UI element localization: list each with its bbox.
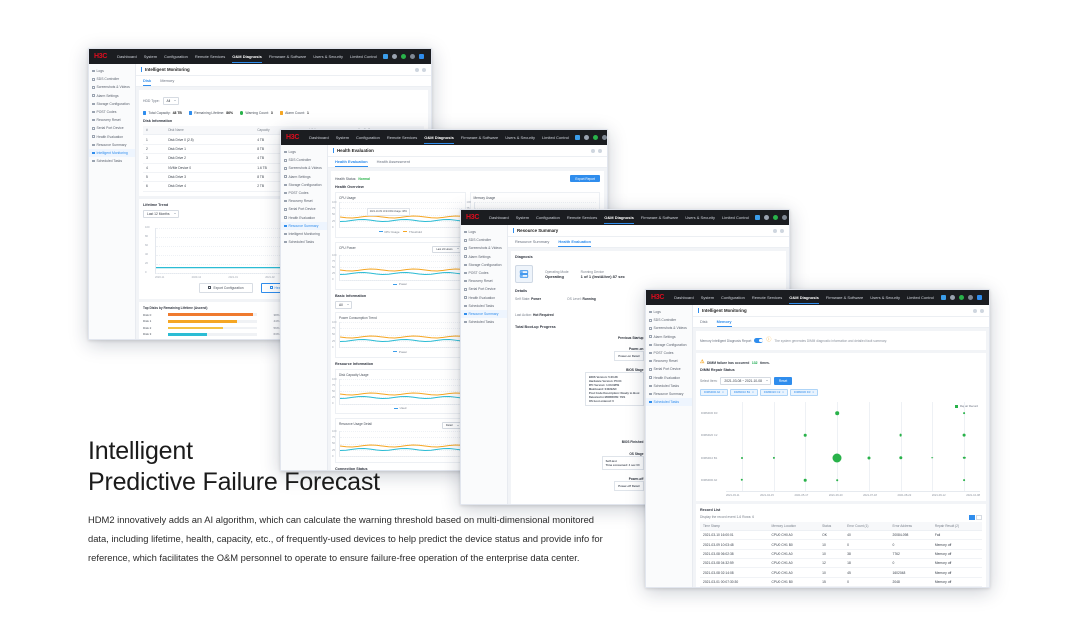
- sidebar-item-icon: [284, 184, 287, 187]
- table-cell: 12: [819, 559, 844, 568]
- sidebar-item-icon: [284, 208, 287, 211]
- nav-item-remote-services[interactable]: Remote Services: [752, 295, 782, 300]
- x-axis-tick: 2021-03-11: [726, 494, 740, 497]
- tab-memory[interactable]: Memory: [160, 78, 174, 86]
- sidebar-item-resource-summary[interactable]: Resource Summary: [281, 222, 327, 230]
- sidebar-item-sds-controller[interactable]: SDS Controller: [646, 316, 692, 324]
- sidebar-item-intelligent-monitoring[interactable]: Intelligent Monitoring: [281, 230, 327, 238]
- sidebar-item-icon: [92, 127, 95, 130]
- nav-item-configuration[interactable]: Configuration: [536, 215, 560, 220]
- column-header[interactable]: Disk Name: [165, 126, 254, 135]
- legend-entry[interactable]: CPU Usage: [379, 230, 400, 234]
- date-range-select[interactable]: 2021-03-08 ~ 2021-10-08: [720, 377, 771, 385]
- navbar: H3C Dashboard System Configuration Remot…: [461, 210, 789, 225]
- help-icon[interactable]: [410, 54, 415, 59]
- column-header[interactable]: #: [143, 126, 165, 135]
- navbar: H3C Dashboard System Configuration Remot…: [646, 290, 989, 305]
- sidebar-item-post-codes[interactable]: POST Codes: [646, 349, 692, 357]
- chart-range-select[interactable]: Last 12 Months: [143, 210, 179, 218]
- status-label: Health Status:: [335, 177, 356, 181]
- x-axis-tick: 2020-12: [192, 276, 202, 279]
- bar-section-1-title: Top Disks by Remaining Lifetime (Ascend): [143, 306, 280, 310]
- sidebar-item-alarm-settings[interactable]: Alarm Settings: [461, 253, 507, 261]
- sidebar-item-icon: [464, 239, 467, 242]
- column-header[interactable]: Time Stamp: [700, 522, 769, 531]
- table-cell: 6: [143, 182, 165, 191]
- detail-self-state: Self State: Power: [515, 297, 541, 301]
- field-value: 1 of 1 (InstAlive) 87 sec: [581, 274, 625, 279]
- sidebar-item-icon: [92, 111, 95, 114]
- language-icon[interactable]: [575, 135, 580, 140]
- page-title: Resource Summary: [513, 228, 558, 233]
- table-cell: CPU0 CH0 A0: [769, 530, 820, 539]
- table-cell: 18: [844, 559, 889, 568]
- sidebar-item-scheduled-tasks[interactable]: Scheduled Tasks: [646, 382, 692, 390]
- sidebar-item-logs[interactable]: Logs: [461, 228, 507, 236]
- nav-icons: [575, 135, 608, 140]
- legend-entry[interactable]: Used: [394, 406, 406, 410]
- sidebar-item-icon: [464, 321, 467, 324]
- sidebar-item-storage-configuration[interactable]: Storage Configuration: [461, 261, 507, 269]
- y-axis-tick: 100: [332, 430, 336, 433]
- tab-disk[interactable]: Disk: [143, 78, 151, 86]
- nav-item-users-security[interactable]: Users & Security: [685, 215, 715, 220]
- sidebar-item-scheduled-tasks[interactable]: Scheduled Tasks: [646, 398, 692, 406]
- y-axis-tick: 100: [332, 378, 336, 381]
- sidebar-item-label: POST Codes: [97, 110, 117, 114]
- tab-resource-summary[interactable]: Resource Summary: [515, 239, 549, 247]
- scatter-point[interactable]: [932, 457, 934, 459]
- sidebar-item-resource-summary[interactable]: Resource Summary: [89, 141, 135, 149]
- sidebar-item-screenshots-videos[interactable]: Screenshots & Videos: [281, 164, 327, 172]
- refresh-icon[interactable]: [415, 68, 419, 72]
- nav-icons: [383, 54, 426, 59]
- table-cell: Fail: [932, 530, 982, 539]
- sidebar-item-serial-port-device[interactable]: Serial Port Device: [646, 365, 692, 373]
- language-icon[interactable]: [755, 215, 760, 220]
- tab-disk[interactable]: Disk: [700, 319, 708, 327]
- nav-item-configuration[interactable]: Configuration: [164, 54, 188, 59]
- sidebar-item-icon: [649, 319, 652, 322]
- sidebar-item-icon: [649, 352, 652, 355]
- nav-item-users-security[interactable]: Users & Security: [870, 295, 900, 300]
- sidebar-item-label: Scheduled Tasks: [289, 240, 315, 244]
- globe-icon[interactable]: [950, 295, 955, 300]
- headline-line-1: Intelligent: [88, 436, 608, 467]
- nav-item-limited-control[interactable]: Limited Control: [722, 215, 749, 220]
- hdd-type-selector: HDD Type: All: [143, 97, 424, 105]
- marketing-copy: Intelligent Predictive Failure Forecast …: [88, 436, 608, 567]
- sidebar-item-label: POST Codes: [654, 351, 674, 355]
- timeline-left: Power-onPower-on Detail: [515, 347, 649, 361]
- bar-track: [168, 327, 257, 330]
- nav-item-remote-services[interactable]: Remote Services: [195, 54, 225, 59]
- tab-health-assessment[interactable]: Health Assessment: [377, 159, 410, 167]
- close-icon[interactable]: ×: [812, 390, 814, 394]
- nav-icons: [941, 295, 984, 300]
- sidebar-item-resource-summary[interactable]: Resource Summary: [646, 390, 692, 398]
- y-axis-tick: 25: [332, 220, 335, 223]
- grid-line: [340, 280, 462, 281]
- nav-item-om-diagnosis[interactable]: O&M Diagnosis: [789, 295, 819, 300]
- status-icon[interactable]: [773, 215, 778, 220]
- sidebar-item-label: Recovery Reset: [654, 359, 678, 363]
- sidebar-item-screenshots-videos[interactable]: Screenshots & Videos: [646, 324, 692, 332]
- bar-fill: [168, 333, 207, 336]
- failure-warning: ⚠ DIMM failure has occurred 132 times.: [700, 357, 982, 368]
- screenshot-window-4: H3C Dashboard System Configuration Remot…: [645, 289, 990, 588]
- mini-chart-title: Disk Capacity Usage: [339, 373, 369, 377]
- table-cell: 5: [143, 172, 165, 181]
- nav-item-firmware-software[interactable]: Firmware & Software: [641, 215, 678, 220]
- fullscreen-icon[interactable]: [980, 309, 984, 313]
- table-cell: 3: [143, 154, 165, 163]
- fullscreen-icon[interactable]: [598, 149, 602, 153]
- sidebar-item-recovery-reset[interactable]: Recovery Reset: [281, 197, 327, 205]
- sidebar-item-icon: [92, 135, 95, 138]
- sidebar-item-scheduled-tasks[interactable]: Scheduled Tasks: [461, 318, 507, 326]
- timeline-card: Power-on Detail: [614, 351, 643, 361]
- table-cell: 15: [819, 577, 844, 586]
- legend-swatch: [393, 351, 397, 352]
- tab-health-evaluation[interactable]: Health Evaluation: [558, 239, 591, 247]
- sidebar-item-icon: [92, 70, 95, 73]
- sidebar-item-post-codes[interactable]: POST Codes: [281, 189, 327, 197]
- bar-label: Disk 1: [143, 319, 165, 323]
- navbar: H3C Dashboard System Configuration Remot…: [281, 130, 607, 145]
- column-header[interactable]: Memory Location: [769, 522, 820, 531]
- grid-view-icon[interactable]: [976, 515, 982, 520]
- nav-item-users-security[interactable]: Users & Security: [505, 135, 535, 140]
- legend-label: Power: [399, 350, 407, 354]
- sidebar-item-icon: [649, 393, 652, 396]
- sidebar-item-label: Logs: [97, 69, 104, 73]
- dimm-chip[interactable]: DIMM000 A0×: [700, 389, 728, 397]
- record-note: Display the record event 1-6 Rows: 6: [700, 515, 754, 519]
- header-icons: [415, 68, 426, 72]
- legend-entry[interactable]: Threshold: [403, 230, 421, 234]
- sidebar-item-label: Intelligent Monitoring: [289, 232, 320, 236]
- sidebar-item-label: Recovery Reset: [289, 199, 313, 203]
- sidebar-item-health-evaluation[interactable]: Health Evaluation: [281, 214, 327, 222]
- tab-bar: Disk Memory: [693, 317, 989, 328]
- nav-item-configuration[interactable]: Configuration: [356, 135, 380, 140]
- y-axis-tick: 25: [332, 340, 335, 343]
- dimm-chip[interactable]: DIMM030 D3×: [790, 389, 818, 397]
- mini-chart-badge[interactable]: Last 24 Hours: [432, 246, 461, 253]
- stat-value: 48 TB: [173, 111, 182, 115]
- mini-chart-badge[interactable]: Detail: [442, 422, 462, 429]
- nav-item-dashboard[interactable]: Dashboard: [489, 215, 509, 220]
- help-icon[interactable]: [602, 135, 607, 140]
- sidebar-item-scheduled-tasks[interactable]: Scheduled Tasks: [461, 302, 507, 310]
- nav-item-om-diagnosis[interactable]: O&M Diagnosis: [424, 135, 454, 140]
- refresh-icon[interactable]: [773, 229, 777, 233]
- sidebar-item-icon: [284, 233, 287, 236]
- table-row[interactable]: 2021-03-08 02:14:08CPU0 CH1 A01045160204…: [700, 568, 982, 577]
- sidebar-item-recovery-reset[interactable]: Recovery Reset: [646, 357, 692, 365]
- selector-value[interactable]: All: [163, 97, 180, 105]
- sidebar-item-icon: [92, 152, 95, 155]
- grid-line: [340, 227, 462, 228]
- sidebar-item-label: Resource Summary: [289, 224, 319, 228]
- nav-item-system[interactable]: System: [516, 215, 529, 220]
- bar-fill: [168, 313, 253, 316]
- h3c-logo: H3C: [94, 53, 111, 60]
- grid-line: [837, 402, 838, 491]
- close-icon[interactable]: ×: [722, 390, 724, 394]
- scatter-point[interactable]: [833, 453, 842, 462]
- user-icon[interactable]: [419, 54, 424, 59]
- language-icon[interactable]: [383, 54, 388, 59]
- bar-list-1: Disk 038%Disk 144%Disk 256%Disk 363%Disk…: [143, 313, 280, 339]
- help-icon[interactable]: [782, 215, 787, 220]
- nav-item-limited-control[interactable]: Limited Control: [542, 135, 569, 140]
- x-axis-tick: 2021-05-17: [794, 494, 808, 497]
- sidebar-item-icon: [464, 255, 467, 258]
- table-row[interactable]: 2021-03-08 06:02:38CPU0 CH1 A010387762Me…: [700, 549, 982, 558]
- nav-item-firmware-software[interactable]: Firmware & Software: [826, 295, 863, 300]
- list-view-icon[interactable]: [969, 515, 975, 520]
- sidebar-item-label: POST Codes: [469, 271, 489, 275]
- globe-icon[interactable]: [392, 54, 397, 59]
- scatter-point[interactable]: [836, 479, 838, 481]
- warning-icon: [240, 111, 243, 114]
- table-cell: 1: [143, 135, 165, 144]
- sidebar-item-serial-port-device[interactable]: Serial Port Device: [89, 124, 135, 132]
- y-axis-tick: 0: [332, 402, 334, 405]
- section2-filter[interactable]: All: [335, 301, 352, 309]
- record-list-title: Record List: [700, 508, 982, 512]
- sidebar-item-resource-summary[interactable]: Resource Summary: [461, 310, 507, 318]
- sidebar-item-health-evaluation[interactable]: Health Evaluation: [461, 294, 507, 302]
- sidebar-item-serial-port-device[interactable]: Serial Port Device: [281, 205, 327, 213]
- sidebar-item-scheduled-tasks[interactable]: Scheduled Tasks: [89, 157, 135, 165]
- table-cell: OK: [819, 530, 844, 539]
- y-axis-tick: 25: [332, 396, 335, 399]
- field-label: Operating Mode: [545, 270, 569, 274]
- table-cell: CPU0 CH1 B0: [769, 540, 820, 549]
- scatter-point[interactable]: [963, 434, 966, 437]
- table-cell: 10: [819, 540, 844, 549]
- table-cell: 4: [143, 163, 165, 172]
- scatter-point[interactable]: [835, 411, 839, 415]
- mini-chart: CPU PowerLast 24 Hours1007550250Power: [335, 242, 466, 291]
- page-header: Intelligent Monitoring: [136, 64, 431, 76]
- sidebar-item-screenshots-videos[interactable]: Screenshots & Videos: [89, 83, 135, 91]
- sidebar-item-alarm-settings[interactable]: Alarm Settings: [89, 92, 135, 100]
- grid-line: [742, 402, 743, 491]
- sidebar-item-storage-configuration[interactable]: Storage Configuration: [646, 341, 692, 349]
- timeline-stage-label: Previous Startup: [515, 336, 644, 340]
- diagnosis-toggle[interactable]: [754, 338, 763, 343]
- sidebar-item-icon: [92, 103, 95, 106]
- nav-item-limited-control[interactable]: Limited Control: [350, 54, 377, 59]
- dimm-chip[interactable]: DIMM010 B1×: [730, 389, 758, 397]
- column-header[interactable]: Error Count (1): [844, 522, 889, 531]
- y-axis-tick: 50: [332, 390, 335, 393]
- sidebar-item-recovery-reset[interactable]: Recovery Reset: [89, 116, 135, 124]
- column-header[interactable]: Error Address: [890, 522, 932, 531]
- y-axis-tick: 50: [332, 333, 335, 336]
- page-headline: Intelligent Predictive Failure Forecast: [88, 436, 608, 497]
- sidebar-item-icon: [649, 360, 652, 363]
- nav-item-limited-control[interactable]: Limited Control: [907, 295, 934, 300]
- legend-label: Used: [400, 406, 407, 410]
- status-icon[interactable]: [593, 135, 598, 140]
- sidebar-item-logs[interactable]: Logs: [89, 67, 135, 75]
- timeline-card: Power-off Detail: [614, 481, 643, 491]
- sidebar-item-health-evaluation[interactable]: Health Evaluation: [646, 374, 692, 382]
- h3c-logo: H3C: [286, 134, 303, 141]
- sidebar-item-storage-configuration[interactable]: Storage Configuration: [281, 181, 327, 189]
- table-cell: 7762: [890, 549, 932, 558]
- y-axis-tick: 50: [332, 266, 335, 269]
- table-cell: Memory off: [932, 568, 982, 577]
- scatter-point[interactable]: [867, 456, 870, 459]
- nav-item-users-security[interactable]: Users & Security: [313, 54, 343, 59]
- nav-item-system[interactable]: System: [144, 54, 157, 59]
- sidebar-item-label: Serial Port Device: [469, 287, 496, 291]
- sidebar-item-intelligent-monitoring[interactable]: Intelligent Monitoring: [89, 149, 135, 157]
- grid-line: [774, 402, 775, 491]
- column-header[interactable]: Status: [819, 522, 844, 531]
- selector-label: HDD Type:: [143, 99, 160, 103]
- legend-entry[interactable]: Power: [393, 350, 407, 354]
- sidebar-item-screenshots-videos[interactable]: Screenshots & Videos: [461, 244, 507, 252]
- dimm-chip[interactable]: DIMM020 C2×: [760, 389, 788, 397]
- table-row[interactable]: 2021-03-01 00:07:30:30CPU0 CH1 B01502048…: [700, 577, 982, 586]
- y-axis-tick: 100: [332, 254, 336, 257]
- sidebar-item-alarm-settings[interactable]: Alarm Settings: [281, 173, 327, 181]
- sidebar-item-sds-controller[interactable]: SDS Controller: [281, 156, 327, 164]
- sidebar-item-post-codes[interactable]: POST Codes: [89, 108, 135, 116]
- sidebar-item-post-codes[interactable]: POST Codes: [461, 269, 507, 277]
- scatter-point[interactable]: [899, 434, 902, 437]
- user-icon[interactable]: [977, 295, 982, 300]
- tab-memory[interactable]: Memory: [717, 319, 732, 327]
- sidebar-item-icon: [464, 288, 467, 291]
- navbar: H3C Dashboard System Configuration Remot…: [89, 49, 431, 64]
- sidebar-item-icon: [649, 376, 652, 379]
- y-axis-tick: 75: [332, 207, 335, 210]
- table-row[interactable]: 2021-03-08 04:32:59CPU0 CH1 A012180Memor…: [700, 559, 982, 568]
- reset-button[interactable]: Reset: [774, 377, 792, 384]
- sidebar-item-icon: [284, 200, 287, 203]
- column-header[interactable]: Repair Result (2): [932, 522, 982, 531]
- y-axis-tick: 0: [332, 346, 334, 349]
- sidebar-item-storage-configuration[interactable]: Storage Configuration: [89, 100, 135, 108]
- grid-line: [340, 347, 462, 348]
- sidebar-item-label: Serial Port Device: [654, 367, 681, 371]
- scatter-point[interactable]: [899, 456, 902, 459]
- subsection-title: Health Overview: [335, 185, 600, 189]
- sidebar-item-label: Screenshots & Videos: [289, 166, 322, 170]
- sidebar-item-sds-controller[interactable]: SDS Controller: [461, 236, 507, 244]
- scatter-point[interactable]: [963, 412, 965, 414]
- nav-item-om-diagnosis[interactable]: O&M Diagnosis: [232, 54, 262, 59]
- nav-item-dashboard[interactable]: Dashboard: [309, 135, 329, 140]
- sidebar-item-sds-controller[interactable]: SDS Controller: [89, 75, 135, 83]
- nav-item-dashboard[interactable]: Dashboard: [674, 295, 694, 300]
- nav-items: Dashboard System Configuration Remote Se…: [309, 135, 569, 140]
- scatter-point[interactable]: [804, 479, 807, 482]
- sidebar-item-logs[interactable]: Logs: [281, 148, 327, 156]
- nav-item-configuration[interactable]: Configuration: [721, 295, 745, 300]
- close-icon[interactable]: ×: [782, 390, 784, 394]
- globe-icon[interactable]: [764, 215, 769, 220]
- nav-item-system[interactable]: System: [701, 295, 714, 300]
- fullscreen-icon[interactable]: [780, 229, 784, 233]
- sidebar-item-serial-port-device[interactable]: Serial Port Device: [461, 285, 507, 293]
- language-icon[interactable]: [941, 295, 946, 300]
- timeline-card: BIOS Version: 5.00.28 Hardware Version: …: [585, 372, 644, 406]
- chart-tooltip: 2021-10-09 10:24:00\nUsage: 48%: [367, 208, 410, 217]
- refresh-icon[interactable]: [973, 309, 977, 313]
- table-cell: Memory off: [932, 559, 982, 568]
- header-icons: [591, 149, 602, 153]
- scatter-point[interactable]: [963, 479, 965, 481]
- sidebar-item-recovery-reset[interactable]: Recovery Reset: [461, 277, 507, 285]
- sidebar-item-scheduled-tasks[interactable]: Scheduled Tasks: [281, 238, 327, 246]
- tab-health-evaluation[interactable]: Health Evaluation: [335, 159, 368, 167]
- status-icon[interactable]: [959, 295, 964, 300]
- mini-chart-legend: Power: [339, 350, 462, 354]
- legend-label: CPU Usage: [384, 230, 399, 234]
- help-icon[interactable]: [968, 295, 973, 300]
- globe-icon[interactable]: [584, 135, 589, 140]
- close-icon[interactable]: ×: [752, 390, 754, 394]
- content-area: Intelligent Monitoring Disk Memory Memor…: [693, 305, 989, 587]
- stat-row: Total Capacity: 48 TB Remaining Lifetime…: [143, 108, 424, 119]
- sidebar-item-health-evaluation[interactable]: Health Evaluation: [89, 133, 135, 141]
- nav-item-dashboard[interactable]: Dashboard: [117, 54, 137, 59]
- bar-value: 63%: [260, 332, 280, 336]
- mini-chart: CPU Usage10075502502021-10-09 10:24:00\n…: [335, 192, 466, 238]
- table-cell: Memory off: [932, 577, 982, 586]
- nav-item-system[interactable]: System: [336, 135, 349, 140]
- export-report-button[interactable]: Export Report: [570, 175, 600, 182]
- sidebar-item-logs[interactable]: Logs: [646, 308, 692, 316]
- chip-label: DIMM020 C2: [764, 390, 780, 394]
- nav-items: Dashboard System Configuration Remote Se…: [117, 54, 377, 59]
- nav-item-remote-services[interactable]: Remote Services: [387, 135, 417, 140]
- export-configuration-button[interactable]: Export Configuration: [199, 283, 252, 293]
- nav-item-firmware-software[interactable]: Firmware & Software: [461, 135, 498, 140]
- running-device-field: Running Device 1 of 1 (InstAlive) 87 sec: [581, 270, 625, 279]
- table-row[interactable]: 2021-03-10 16:00:01CPU0 CH0 A0OK4020084-…: [700, 530, 982, 539]
- scatter-point[interactable]: [741, 457, 743, 459]
- legend-entry[interactable]: Power: [393, 282, 407, 286]
- nav-item-firmware-software[interactable]: Firmware & Software: [269, 54, 306, 59]
- sidebar-item-icon: [649, 311, 652, 314]
- sidebar-item-icon: [464, 296, 467, 299]
- scatter-point[interactable]: [804, 434, 807, 437]
- refresh-icon[interactable]: [591, 149, 595, 153]
- status-icon[interactable]: [401, 54, 406, 59]
- sidebar-item-icon: [464, 272, 467, 275]
- fullscreen-icon[interactable]: [422, 68, 426, 72]
- sidebar-item-label: Scheduled Tasks: [97, 159, 123, 163]
- table-row[interactable]: 2021-03-09 10:03:48CPU0 CH1 B01000Memory…: [700, 540, 982, 549]
- sidebar-item-alarm-settings[interactable]: Alarm Settings: [646, 333, 692, 341]
- nav-item-om-diagnosis[interactable]: O&M Diagnosis: [604, 215, 634, 220]
- header-icons: [773, 229, 784, 233]
- mini-chart-title: CPU Usage: [339, 196, 356, 200]
- bar-label: Disk 0: [143, 313, 165, 317]
- nav-item-remote-services[interactable]: Remote Services: [567, 215, 597, 220]
- sidebar-item-label: Storage Configuration: [289, 183, 322, 187]
